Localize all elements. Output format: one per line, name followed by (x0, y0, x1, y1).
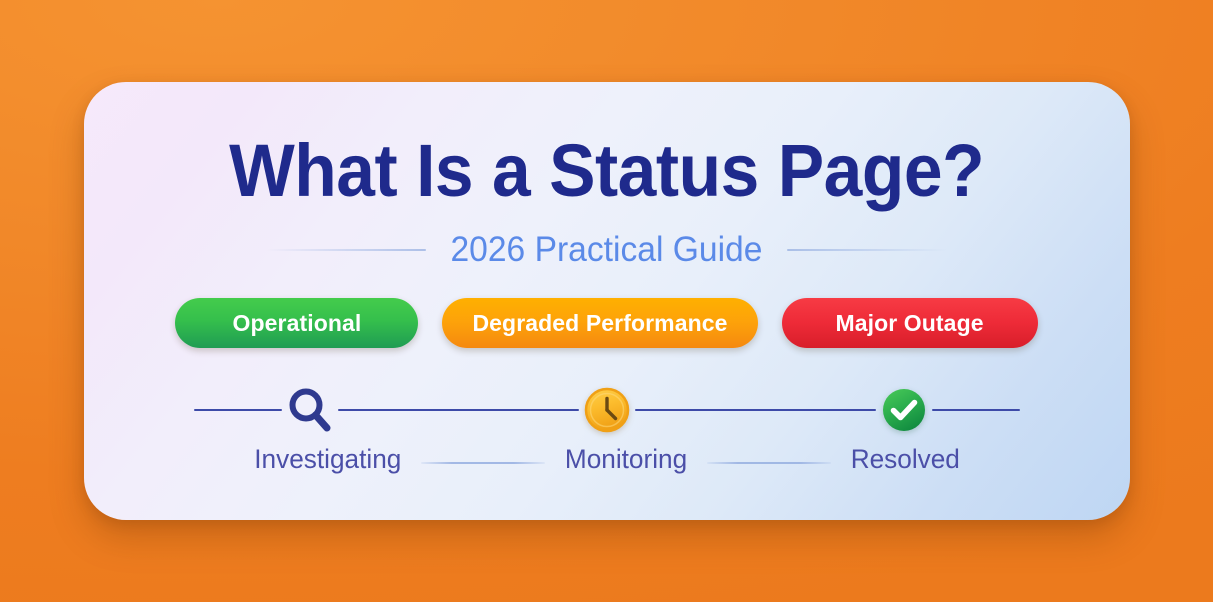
status-page-card: What Is a Status Page? 2026 Practical Gu… (84, 82, 1130, 520)
timeline-node-resolved[interactable] (876, 382, 932, 438)
timeline-labels: Investigating Monitoring Resolved (194, 444, 1020, 475)
timeline-label-monitoring: Monitoring (565, 444, 687, 475)
check-circle-icon (880, 386, 928, 434)
timeline-node-monitoring[interactable] (579, 382, 635, 438)
subtitle-row: 2026 Practical Guide (84, 230, 1130, 270)
status-badge-degraded-performance[interactable]: Degraded Performance (442, 298, 757, 348)
timeline-label-investigating: Investigating (254, 444, 401, 475)
timeline-node-investigating[interactable] (282, 382, 338, 438)
timeline-label-line-2 (707, 462, 831, 464)
subtitle-rule-left (266, 249, 426, 251)
subtitle-rule-right (787, 249, 947, 251)
timeline-line-2 (635, 409, 876, 411)
timeline-label-line-1 (421, 462, 545, 464)
background-canvas: What Is a Status Page? 2026 Practical Gu… (0, 0, 1213, 602)
page-title: What Is a Status Page? (229, 134, 984, 208)
page-subtitle: 2026 Practical Guide (433, 230, 779, 270)
incident-timeline: Investigating Monitoring Resolved (194, 382, 1020, 475)
status-badge-group: Operational Degraded Performance Major O… (175, 298, 1037, 348)
timeline-line-1 (338, 409, 579, 411)
timeline-label-resolved: Resolved (851, 444, 960, 475)
timeline-track (194, 382, 1020, 438)
clock-icon (583, 386, 631, 434)
magnifier-icon (284, 384, 336, 436)
timeline-line-end (932, 409, 1020, 411)
status-badge-major-outage[interactable]: Major Outage (782, 298, 1038, 348)
status-badge-operational[interactable]: Operational (175, 298, 418, 348)
timeline-line-start (194, 409, 282, 411)
